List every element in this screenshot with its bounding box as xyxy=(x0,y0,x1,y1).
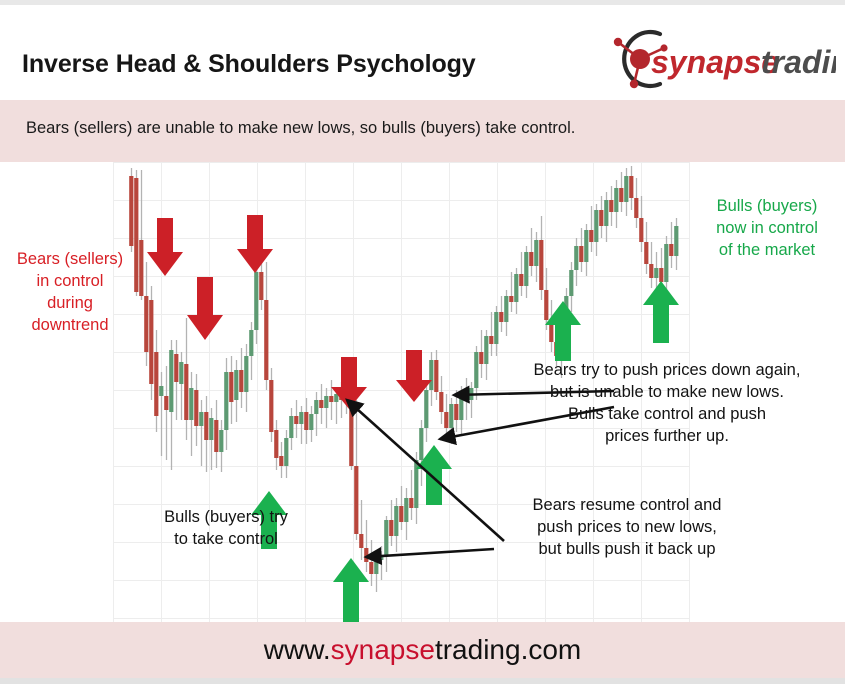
annotation-bears-in-control: Bears (sellers) in control during downtr… xyxy=(2,249,138,337)
footer-brand: synapse xyxy=(331,634,435,665)
pointer-to-head-low xyxy=(366,549,494,557)
logo-word-synapse: synapse xyxy=(651,44,779,80)
bear-arrow-down-1 xyxy=(147,218,183,276)
bull-arrow-up-4 xyxy=(545,301,581,361)
bear-arrow-down-group xyxy=(147,215,432,409)
bull-arrow-up-group xyxy=(251,281,679,622)
bear-arrow-down-2 xyxy=(187,277,223,340)
bottom-edge-strip xyxy=(0,678,845,684)
bear-arrow-down-5 xyxy=(396,350,432,402)
bear-arrow-down-3 xyxy=(237,215,273,273)
logo-word-trading: trading xyxy=(761,44,836,80)
footer-website: www.synapsetrading.com xyxy=(0,634,845,666)
subtitle-text: Bears (sellers) are unable to make new l… xyxy=(26,119,575,138)
page-title: Inverse Head & Shoulders Psychology xyxy=(22,50,476,79)
synapsetrading-logo: synapse trading xyxy=(598,28,836,90)
bull-arrow-up-3 xyxy=(416,445,452,505)
footer-prefix: www. xyxy=(264,634,331,665)
footer-suffix: trading.com xyxy=(435,634,581,665)
annotation-bulls-try: Bulls (buyers) try to take control xyxy=(128,507,324,551)
slide-root: Inverse Head & Shoulders Psychology syna… xyxy=(0,0,845,684)
bull-arrow-up-2 xyxy=(333,558,369,622)
pointer-to-left-shoulder-low xyxy=(347,400,504,541)
annotation-bears-resume: Bears resume control and push prices to … xyxy=(492,495,762,561)
bull-arrow-up-5 xyxy=(643,281,679,343)
annotation-bulls-in-control: Bulls (buyers) now in control of the mar… xyxy=(692,196,842,262)
annotation-bears-try-again: Bears try to push prices down again, but… xyxy=(492,360,842,448)
logo-node-icon xyxy=(630,49,650,69)
